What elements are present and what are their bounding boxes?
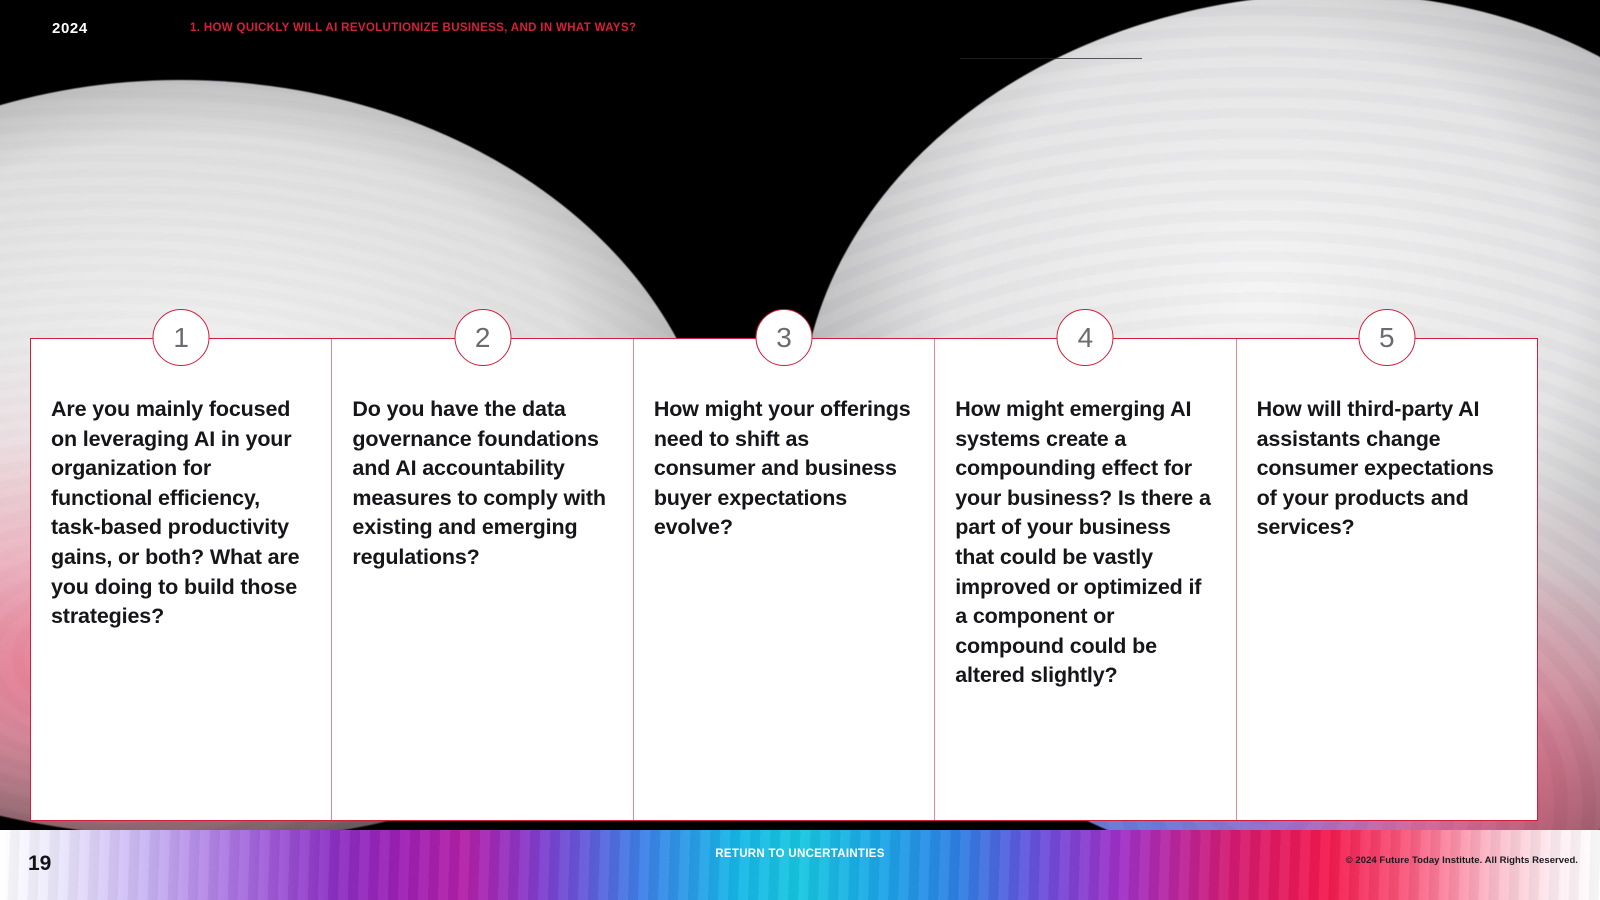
page-footer: 19 RETURN TO UNCERTAINTIES © 2024 Future… [0, 830, 1600, 900]
card-number-badge: 1 [153, 309, 210, 366]
question-card: 4 How might emerging AI systems create a… [935, 339, 1236, 820]
header-year: 2024 [52, 20, 88, 37]
question-card: 5 How will third-party AI assistants cha… [1237, 339, 1537, 820]
card-number-badge: 4 [1057, 309, 1114, 366]
card-number-badge: 2 [454, 309, 511, 366]
card-question-text: Do you have the data governance foundati… [352, 395, 610, 573]
card-number-label: 5 [1379, 324, 1395, 352]
card-number-badge: 3 [756, 309, 813, 366]
page-number: 19 [28, 852, 51, 876]
card-number-label: 4 [1078, 324, 1094, 352]
question-card: 3 How might your offerings need to shift… [634, 339, 935, 820]
return-to-uncertainties-link[interactable]: RETURN TO UNCERTAINTIES [715, 848, 884, 860]
copyright-notice: © 2024 Future Today Institute. All Right… [1346, 855, 1578, 866]
question-card: 1 Are you mainly focused on leveraging A… [31, 339, 332, 820]
question-card: 2 Do you have the data governance founda… [332, 339, 633, 820]
card-number-label: 3 [776, 324, 792, 352]
question-card-grid: 1 Are you mainly focused on leveraging A… [30, 338, 1538, 821]
card-question-text: How might emerging AI systems create a c… [955, 395, 1213, 691]
slide-page: 2024 1. HOW QUICKLY WILL AI REVOLUTIONIZ… [0, 0, 1600, 900]
card-question-text: How will third-party AI assistants chang… [1257, 395, 1515, 543]
card-question-text: Are you mainly focused on leveraging AI … [51, 395, 309, 632]
page-title: 1. HOW QUICKLY WILL AI REVOLUTIONIZE BUS… [190, 22, 636, 34]
card-number-badge: 5 [1358, 309, 1415, 366]
page-header: 2024 1. HOW QUICKLY WILL AI REVOLUTIONIZ… [0, 0, 1600, 60]
card-question-text: How might your offerings need to shift a… [654, 395, 912, 543]
card-number-label: 1 [173, 324, 189, 352]
card-number-label: 2 [475, 324, 491, 352]
